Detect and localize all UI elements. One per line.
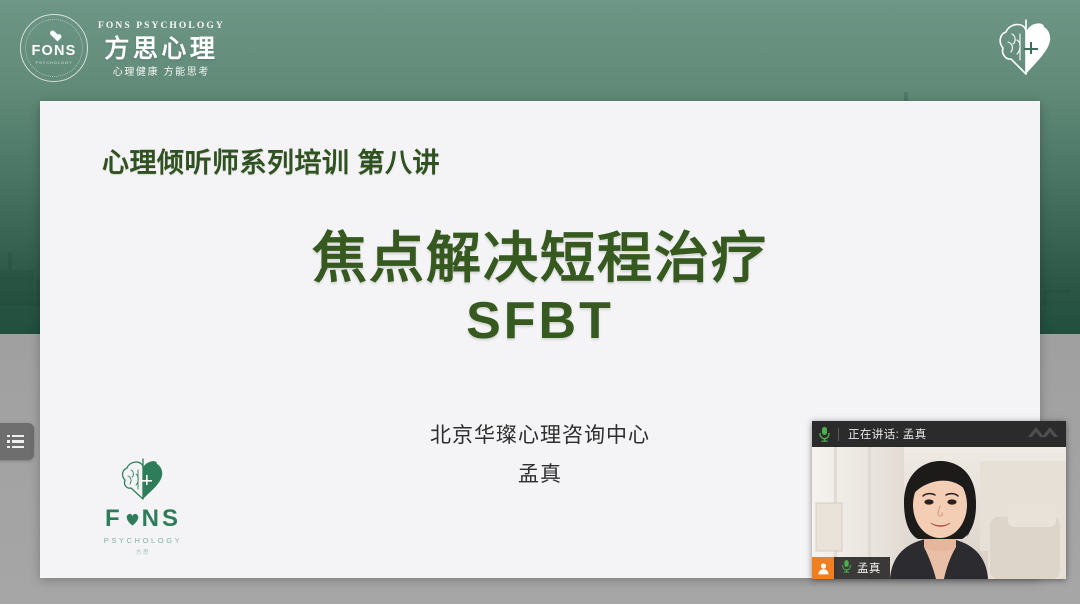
slide-fons-logo: F NS PSYCHOLOGY 方思 <box>88 454 198 556</box>
slide-logo-chinese-text: 方思 <box>136 548 150 556</box>
badge-dotted-ring <box>25 19 83 77</box>
list-icon <box>7 435 24 449</box>
slide-brain-heart-icon <box>112 454 174 502</box>
slide-title: 焦点解决短程治疗 SFBT <box>40 226 1040 352</box>
video-feed: 孟真 <box>812 447 1066 579</box>
microphone-icon <box>818 426 831 442</box>
brand-wordmark: FONS PSYCHOLOGY 方思心理 心理健康 方能思考 <box>98 18 225 78</box>
participant-name-bar: 孟真 <box>812 557 890 579</box>
participant-avatar-icon <box>812 557 834 579</box>
video-bar-divider <box>838 428 839 441</box>
brain-heart-leaf-icon <box>990 10 1062 86</box>
participant-microphone-icon <box>841 559 852 578</box>
slide-logo-fons-text: F NS <box>105 507 181 531</box>
screen-root: FONS PSYCHOLOGY FONS PSYCHOLOGY 方思心理 心理健… <box>0 0 1080 604</box>
participant-name-label: 孟真 <box>857 560 881 576</box>
badge-heart-icon <box>50 31 59 40</box>
brand-logo-left: FONS PSYCHOLOGY FONS PSYCHOLOGY 方思心理 心理健… <box>20 14 225 82</box>
fons-circle-badge: FONS PSYCHOLOGY <box>20 14 88 82</box>
brand-chinese-name: 方思心理 <box>104 37 218 62</box>
video-speaking-bar: 正在讲话: 孟真 <box>812 421 1066 447</box>
slide-title-english: SFBT <box>40 291 1040 352</box>
slide-kicker: 心理倾听师系列培训 第八讲 <box>102 141 440 180</box>
video-speaking-label: 正在讲话: 孟真 <box>848 426 927 442</box>
slide-title-chinese: 焦点解决短程治疗 <box>312 227 768 289</box>
slide-logo-heart-icon <box>124 511 141 528</box>
brand-tagline: 心理健康 方能思考 <box>113 68 210 78</box>
brand-english-name: FONS PSYCHOLOGY <box>98 22 225 32</box>
list-panel-toggle[interactable] <box>0 423 34 460</box>
chevron-collapse-icon[interactable] <box>1026 423 1060 446</box>
slide-logo-psychology-text: PSYCHOLOGY <box>104 536 183 545</box>
video-panel[interactable]: 正在讲话: 孟真 <box>812 421 1066 579</box>
